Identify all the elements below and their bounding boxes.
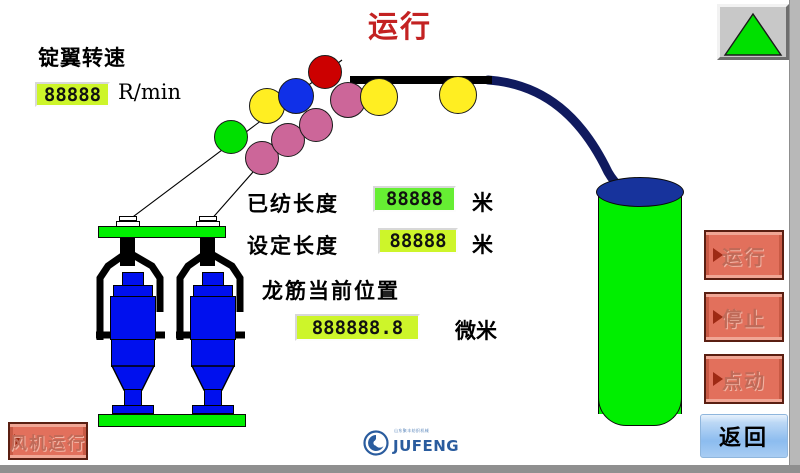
set-length-unit: 米 xyxy=(472,229,493,259)
spindle-top-rail xyxy=(98,226,226,238)
spindle-right-drive xyxy=(200,238,215,266)
set-length-value-field[interactable]: 88888 xyxy=(378,228,458,254)
jog-button[interactable]: 点动 xyxy=(704,354,784,404)
bobbin-cap-right-base xyxy=(196,221,220,227)
spun-length-value-field[interactable]: 88888 xyxy=(373,186,456,212)
logo-subtext: 山东聚丰纺织机械 xyxy=(394,428,429,434)
sliver-can-body xyxy=(598,192,682,414)
jog-button-label: 点动 xyxy=(706,356,782,402)
bobbin-right-foot xyxy=(204,389,222,406)
hmi-screen: 运行 锭翼转速 88888 R/min 已纺长度 88888 米 设定长度 88… xyxy=(0,0,800,473)
page-title: 运行 xyxy=(0,2,800,46)
status-indicator-panel xyxy=(717,4,789,60)
roller-yellow-3 xyxy=(439,76,477,114)
speed-unit: R/min xyxy=(118,80,181,104)
right-scroll-strip[interactable] xyxy=(789,0,800,465)
stop-button-label: 停止 xyxy=(706,294,782,340)
speed-label: 锭翼转速 xyxy=(38,42,126,72)
back-button[interactable]: 返回 xyxy=(700,414,788,458)
set-length-label: 设定长度 xyxy=(247,230,339,260)
bobbin-left-lower xyxy=(111,339,155,367)
roller-pink-3 xyxy=(299,108,333,142)
bobbin-right-upper xyxy=(190,296,236,340)
stop-button[interactable]: 停止 xyxy=(704,292,784,342)
bobbin-right-base xyxy=(192,405,234,414)
logo-text: JUFENG xyxy=(393,437,459,455)
roller-yellow-2 xyxy=(360,78,398,116)
bobbin-left-base xyxy=(112,405,154,414)
sliver-can-bottom xyxy=(598,398,682,426)
spun-length-unit: 米 xyxy=(472,187,493,217)
speed-value-field[interactable]: 88888 xyxy=(35,82,110,107)
rib-position-unit: 微米 xyxy=(455,315,497,345)
yarn-path xyxy=(488,80,636,194)
bobbin-right-neck xyxy=(202,272,224,286)
run-button-label: 运行 xyxy=(706,232,782,278)
bobbin-cap-left-base xyxy=(116,221,140,227)
rib-position-label: 龙筋当前位置 xyxy=(262,275,400,305)
run-button[interactable]: 运行 xyxy=(704,230,784,280)
company-logo: 山东聚丰纺织机械 JUFENG xyxy=(363,428,459,458)
bobbin-left-upper xyxy=(110,296,156,340)
fan-run-button[interactable]: 风机运行 xyxy=(8,422,88,460)
bobbin-left-neck xyxy=(122,272,144,286)
roller-red xyxy=(308,55,342,89)
spindle-bottom-rail xyxy=(98,414,246,427)
roller-green xyxy=(214,120,248,154)
spindle-left-drive xyxy=(120,238,135,266)
rib-position-value-field[interactable]: 888888.8 xyxy=(295,314,420,341)
bobbin-left-foot xyxy=(124,389,142,406)
fan-run-button-label: 风机运行 xyxy=(10,424,86,458)
bottom-status-bar xyxy=(0,465,800,473)
spun-length-label: 已纺长度 xyxy=(247,188,339,218)
swirl-logo-icon xyxy=(363,430,391,458)
bobbin-right-lower xyxy=(191,339,235,367)
sliver-can-top xyxy=(596,177,684,207)
